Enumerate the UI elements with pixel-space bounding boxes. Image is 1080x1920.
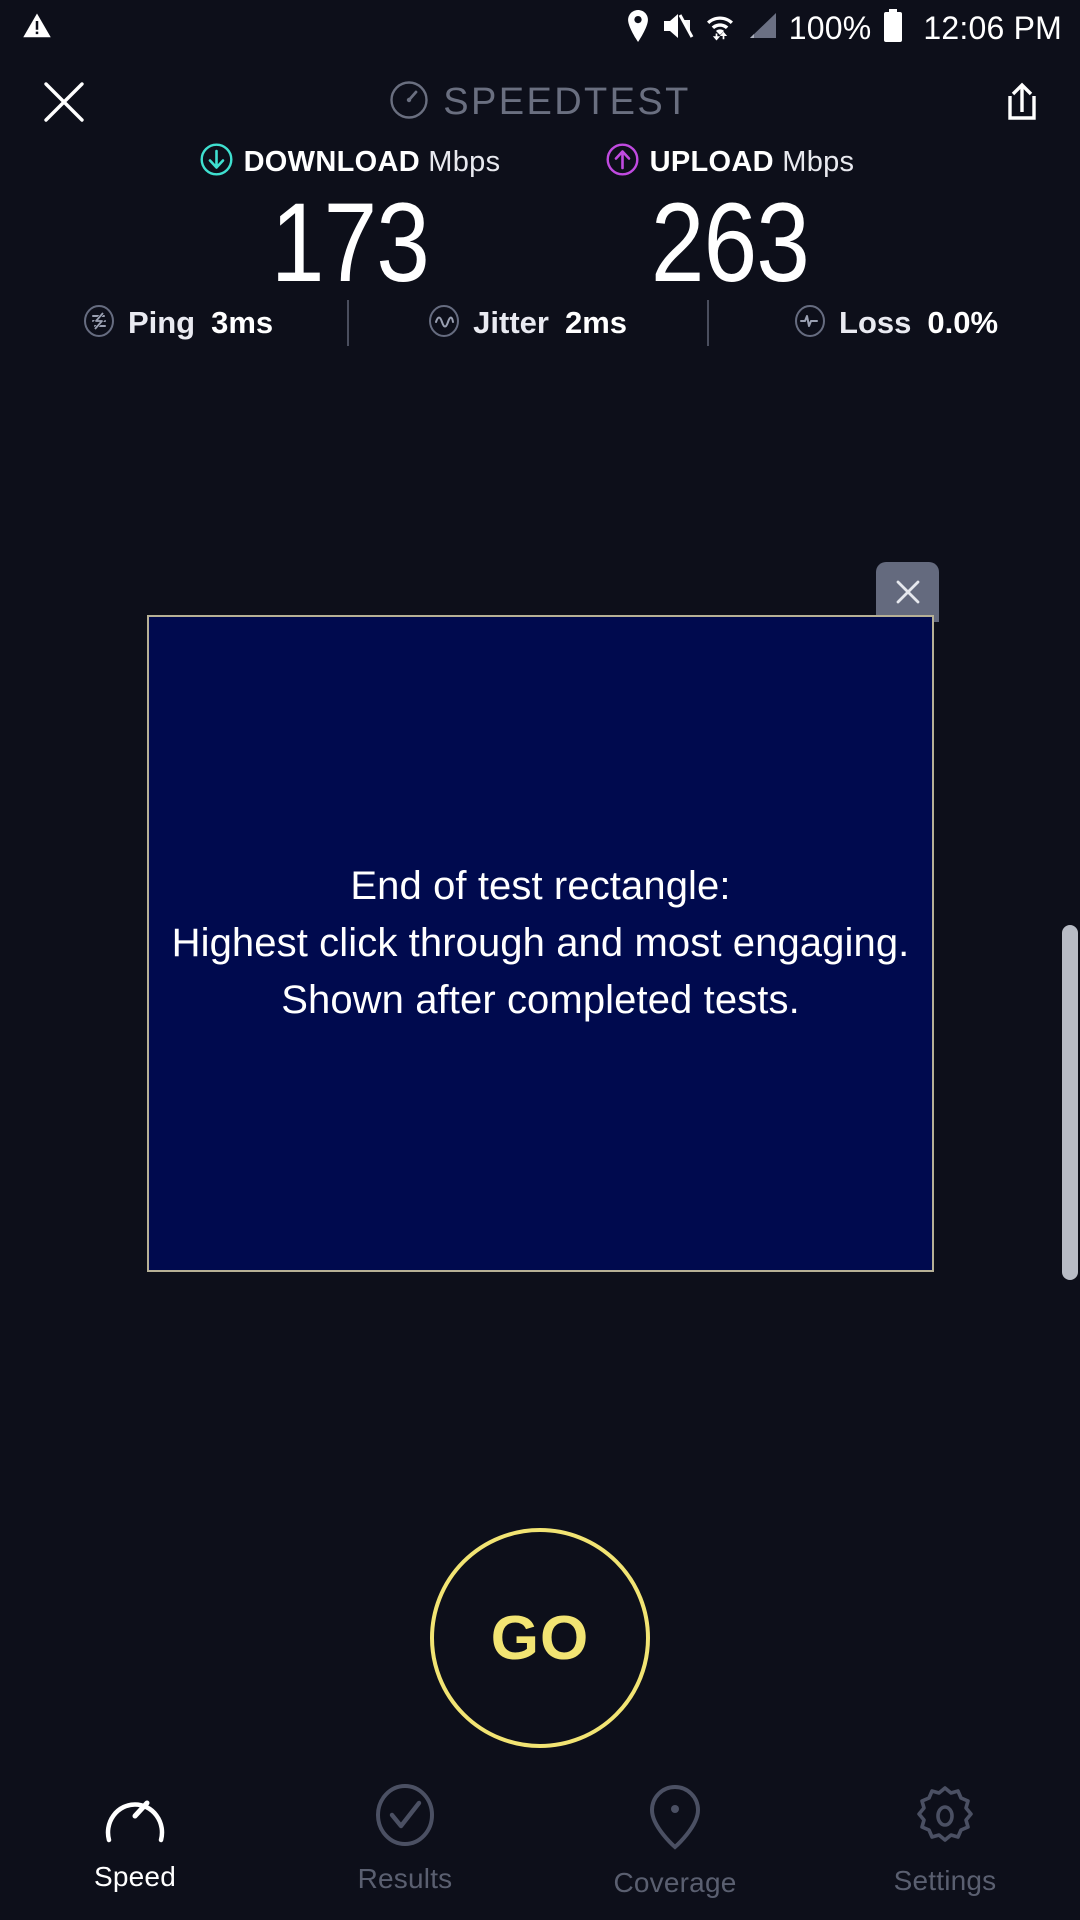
location-pin-icon: [625, 10, 651, 47]
upload-arrow-icon: [606, 143, 639, 181]
speedometer-icon: [103, 1784, 167, 1849]
metrics-row: Ping 3ms Jitter 2ms Loss 0.0%: [0, 300, 1080, 346]
download-label: DOWNLOAD Mbps: [244, 146, 501, 179]
ping-icon: [82, 304, 116, 343]
bottom-navigation: Speed Results Coverage Settings: [0, 1768, 1080, 1920]
map-pin-icon: [647, 1784, 703, 1855]
results-summary: DOWNLOAD Mbps 173 UPLOAD Mbps 263: [0, 140, 1080, 300]
metric-jitter-value: 2ms: [565, 305, 627, 341]
metric-loss-label: Loss: [839, 305, 911, 341]
download-value: 173: [271, 186, 429, 300]
metric-loss: Loss 0.0%: [793, 304, 998, 343]
speedometer-icon: [389, 80, 429, 125]
ad-text: End of test rectangle: Highest click thr…: [172, 858, 910, 1028]
page-title: SPEEDTEST: [443, 81, 691, 124]
share-button[interactable]: [990, 70, 1054, 134]
status-clock: 12:06 PM: [923, 10, 1062, 47]
upload-label-group: UPLOAD Mbps: [606, 140, 855, 184]
metric-ping: Ping 3ms: [82, 304, 273, 343]
loss-icon: [793, 304, 827, 343]
download-label-group: DOWNLOAD Mbps: [200, 140, 501, 184]
nav-label-results: Results: [358, 1863, 453, 1895]
speed-row: DOWNLOAD Mbps 173 UPLOAD Mbps 263: [0, 140, 1080, 300]
status-bar-left: [22, 11, 52, 46]
upload-value: 263: [651, 186, 809, 300]
nav-label-coverage: Coverage: [613, 1867, 736, 1899]
check-circle-icon: [373, 1784, 437, 1851]
ad-close-button[interactable]: [876, 562, 939, 622]
nav-item-results[interactable]: Results: [270, 1784, 540, 1895]
nav-item-settings[interactable]: Settings: [810, 1784, 1080, 1897]
ad-text-line-1: End of test rectangle:: [172, 858, 910, 915]
app-header: SPEEDTEST: [0, 56, 1080, 148]
upload-label: UPLOAD Mbps: [650, 146, 855, 179]
go-button[interactable]: GO: [430, 1528, 650, 1748]
status-bar: 100% 12:06 PM: [0, 0, 1080, 56]
advertisement: End of test rectangle: Highest click thr…: [147, 615, 934, 1272]
nav-item-coverage[interactable]: Coverage: [540, 1784, 810, 1899]
ad-text-line-2: Highest click through and most engaging.: [172, 915, 910, 972]
page-scrollbar[interactable]: [1062, 925, 1078, 1280]
nav-label-settings: Settings: [894, 1865, 997, 1897]
metric-jitter: Jitter 2ms: [427, 304, 627, 343]
mute-icon: [662, 11, 694, 46]
wifi-icon: [705, 10, 735, 47]
status-bar-right: 100% 12:06 PM: [625, 9, 1062, 48]
jitter-icon: [427, 304, 461, 343]
app-title-group: SPEEDTEST: [0, 80, 1080, 125]
ad-creative[interactable]: End of test rectangle: Highest click thr…: [147, 615, 934, 1272]
warning-triangle-icon: [22, 11, 52, 46]
metric-divider-1: [347, 300, 349, 346]
upload-result: UPLOAD Mbps 263: [540, 140, 920, 300]
battery-percent-label: 100%: [789, 10, 872, 47]
metric-loss-value: 0.0%: [927, 305, 998, 341]
close-button[interactable]: [32, 70, 96, 134]
go-button-label: GO: [491, 1603, 589, 1674]
gear-icon: [913, 1784, 977, 1853]
download-arrow-icon: [200, 143, 233, 181]
nav-item-speed[interactable]: Speed: [0, 1784, 270, 1893]
download-result: DOWNLOAD Mbps 173: [160, 140, 540, 300]
metric-ping-label: Ping: [128, 305, 195, 341]
metric-jitter-label: Jitter: [473, 305, 549, 341]
metric-divider-2: [707, 300, 709, 346]
battery-full-icon: [882, 9, 904, 48]
cellular-signal-icon: [746, 11, 778, 46]
ad-text-line-3: Shown after completed tests.: [172, 972, 910, 1029]
nav-label-speed: Speed: [94, 1861, 176, 1893]
metric-ping-value: 3ms: [211, 305, 273, 341]
